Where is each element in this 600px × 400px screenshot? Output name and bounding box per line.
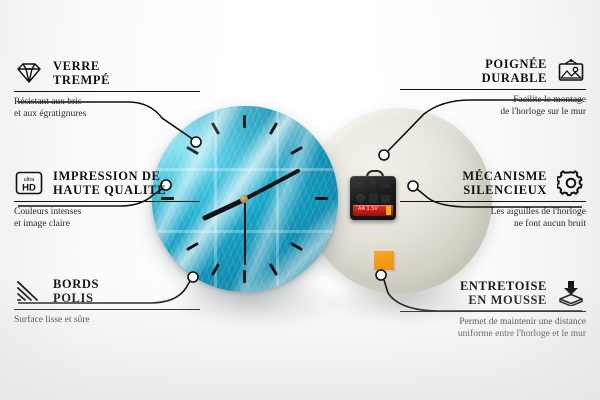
- feature-verre-trempe: VERRE TREMPÉ Résistant aux bris et aux é…: [14, 58, 200, 120]
- feature-title: BORDS POLIS: [53, 277, 99, 305]
- feature-title: MÉCANISME SILENCIEUX: [462, 169, 547, 197]
- diamond-icon: [14, 58, 44, 88]
- feature-entretoise-mousse: ENTRETOISE EN MOUSSE Permet de maintenir…: [400, 278, 586, 340]
- feature-bords-polis: BORDS POLIS Surface lisse et sûre: [14, 276, 200, 327]
- feature-description: Facilite le montage de l'horloge sur le …: [400, 95, 586, 118]
- feature-impression-haute-qualite: ultra HD IMPRESSION DE HAUTE QUALITÉ Cou…: [14, 168, 200, 230]
- feature-title: IMPRESSION DE HAUTE QUALITÉ: [53, 169, 166, 197]
- feature-mecanisme-silencieux: MÉCANISME SILENCIEUX Les aiguilles de l'…: [400, 168, 586, 230]
- polished-edges-icon: [14, 276, 44, 306]
- connector-bords-polis: [18, 281, 190, 303]
- feature-divider: [400, 311, 586, 312]
- feature-divider: [14, 91, 200, 92]
- feature-description: Permet de maintenir une distance uniform…: [400, 317, 586, 340]
- picture-frame-hanger-icon: [556, 56, 586, 86]
- feature-title: VERRE TREMPÉ: [53, 59, 110, 87]
- back-clock-shadow: [300, 272, 510, 332]
- gear-icon: [556, 168, 586, 198]
- ultra-hd-icon: ultra HD: [14, 168, 44, 198]
- feature-description: Couleurs intenses et image claire: [14, 207, 200, 230]
- feature-divider: [14, 201, 200, 202]
- feature-divider: [400, 201, 586, 202]
- feature-poignee-durable: POIGNÉE DURABLE Facilite le montage de l…: [400, 56, 586, 118]
- svg-text:HD: HD: [22, 183, 36, 194]
- feature-description: Les aiguilles de l'horloge ne font aucun…: [400, 207, 586, 230]
- connector-entretoise-mousse: [384, 280, 582, 311]
- infographic-canvas: AA 1.5V: [0, 0, 600, 400]
- feature-divider: [400, 89, 586, 90]
- feature-title: POIGNÉE DURABLE: [482, 57, 547, 85]
- feature-description: Résistant aux bris et aux égratignures: [14, 97, 200, 120]
- feature-description: Surface lisse et sûre: [14, 315, 200, 327]
- feature-title: ENTRETOISE EN MOUSSE: [460, 279, 547, 307]
- feature-divider: [14, 309, 200, 310]
- foam-spacer-icon: [556, 278, 586, 308]
